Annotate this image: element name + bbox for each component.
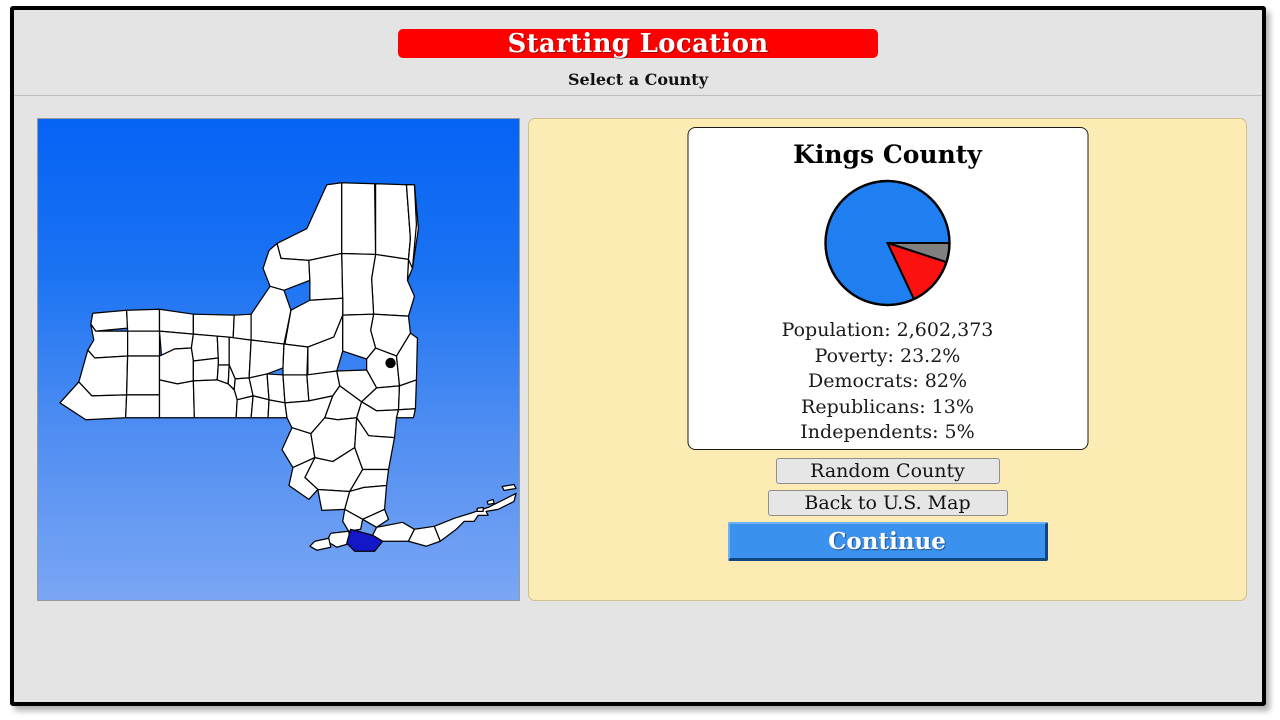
county-rensselaer-s[interactable] — [397, 409, 416, 418]
county-ontario-s[interactable] — [193, 358, 218, 381]
county-cattaraugus[interactable] — [126, 395, 160, 418]
county-genesee[interactable] — [128, 331, 160, 356]
party-pie-chart — [688, 178, 1087, 308]
county-detail-card: Kings County Population: 2,602,373 Pover… — [687, 127, 1088, 450]
back-to-us-map-button[interactable]: Back to U.S. Map — [768, 490, 1008, 516]
island-shelter[interactable] — [477, 507, 483, 511]
stat-democrats: Democrats: 82% — [688, 369, 1087, 395]
county-name-heading: Kings County — [688, 140, 1087, 169]
county-franklin[interactable] — [342, 183, 376, 255]
new-york-county-map-svg[interactable] — [38, 119, 519, 600]
county-broome[interactable] — [268, 400, 287, 418]
stat-poverty: Poverty: 23.2% — [688, 344, 1087, 370]
county-tioga[interactable] — [251, 396, 269, 418]
county-steuben[interactable] — [193, 380, 237, 418]
stat-republicans: Republicans: 13% — [688, 395, 1087, 421]
party-pie-chart-svg — [823, 178, 953, 308]
county-otsego[interactable] — [283, 375, 309, 403]
random-county-button[interactable]: Random County — [776, 458, 1000, 484]
county-essex-b[interactable] — [372, 254, 415, 316]
county-cayuga-n[interactable] — [233, 314, 251, 340]
county-niagara[interactable] — [91, 310, 128, 331]
current-location-marker — [385, 358, 395, 368]
stat-population: Population: 2,602,373 — [688, 318, 1087, 344]
county-chemung[interactable] — [236, 396, 253, 418]
title-banner: Starting Location — [398, 29, 878, 58]
county-stats-list: Population: 2,602,373 Poverty: 23.2% Dem… — [688, 318, 1087, 446]
county-info-panel: Kings County Population: 2,602,373 Pover… — [528, 118, 1247, 601]
game-window: Starting Location Select a County — [10, 6, 1266, 706]
county-ontario[interactable] — [191, 334, 218, 361]
page-title: Starting Location — [508, 31, 769, 57]
county-hamilton[interactable] — [342, 253, 376, 315]
county-clinton[interactable] — [376, 184, 411, 260]
county-wyoming[interactable] — [127, 356, 160, 395]
county-chenango[interactable] — [267, 374, 285, 403]
continue-button[interactable]: Continue — [728, 522, 1048, 561]
body-area: Kings County Population: 2,602,373 Pover… — [14, 97, 1262, 702]
county-seneca[interactable] — [217, 336, 229, 365]
county-monroe[interactable] — [159, 309, 193, 334]
header-area: Starting Location Select a County — [14, 10, 1262, 96]
county-lewis[interactable] — [309, 253, 343, 300]
county-fulton[interactable] — [343, 314, 376, 359]
stat-independents: Independents: 5% — [688, 420, 1087, 446]
county-madison[interactable] — [283, 344, 308, 375]
county-orleans[interactable] — [127, 309, 160, 331]
page-subtitle: Select a County — [14, 70, 1262, 89]
map-panel[interactable] — [37, 118, 520, 601]
county-livingston[interactable] — [159, 348, 193, 384]
county-allegany[interactable] — [159, 380, 194, 418]
